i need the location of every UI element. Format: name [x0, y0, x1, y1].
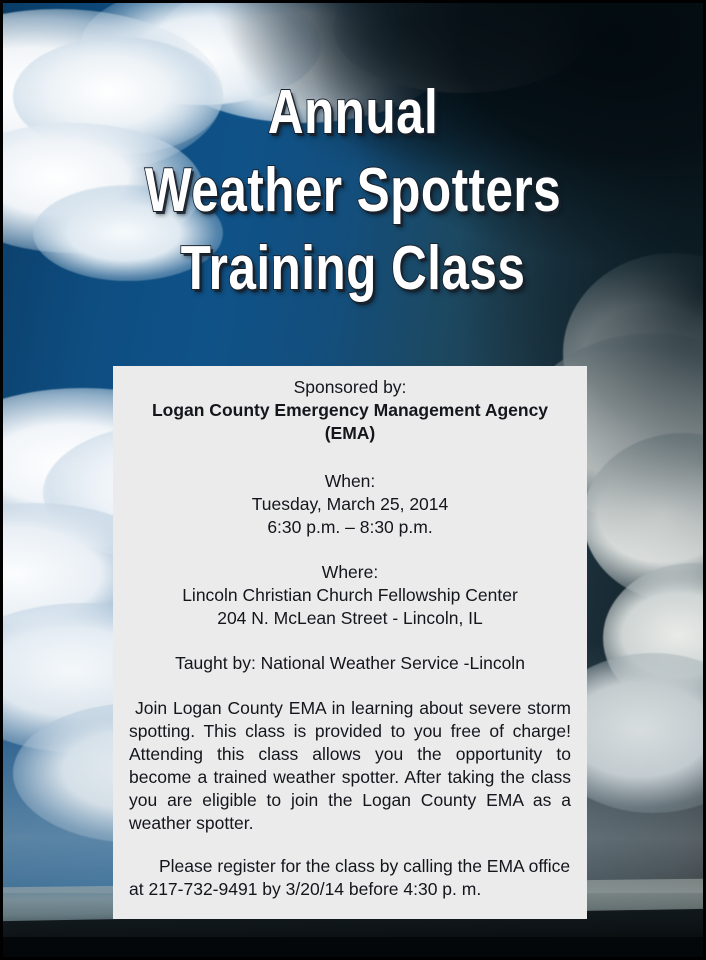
sponsored-by-label: Sponsored by:	[129, 376, 571, 399]
spacer	[129, 835, 571, 855]
title-line-2: Weather Spotters	[71, 152, 636, 230]
when-time: 6:30 p.m. – 8:30 p.m.	[129, 516, 571, 539]
title-line-3: Training Class	[71, 230, 636, 308]
title-line-1: Annual	[71, 74, 636, 152]
spacer	[129, 675, 571, 697]
sponsor-abbreviation: (EMA)	[129, 422, 571, 445]
where-venue: Lincoln Christian Church Fellowship Cent…	[129, 584, 571, 607]
where-label: Where:	[129, 561, 571, 584]
when-date: Tuesday, March 25, 2014	[129, 493, 571, 516]
information-panel: Sponsored by: Logan County Emergency Man…	[113, 366, 587, 919]
where-address: 204 N. McLean Street - Lincoln, IL	[129, 607, 571, 630]
when-label: When:	[129, 470, 571, 493]
spacer	[129, 630, 571, 652]
body-paragraph: Join Logan County EMA in learning about …	[129, 697, 571, 835]
sponsor-name: Logan County Emergency Management Agency	[129, 399, 571, 422]
weather-spotters-flyer: Annual Weather Spotters Training Class S…	[0, 0, 706, 960]
spacer	[129, 445, 571, 470]
taught-by: Taught by: National Weather Service -Lin…	[129, 652, 571, 675]
flyer-title: Annual Weather Spotters Training Class	[0, 74, 706, 308]
dark-foreground-base	[3, 937, 703, 957]
register-paragraph: Please register for the class by calling…	[129, 855, 571, 901]
spacer	[129, 539, 571, 561]
